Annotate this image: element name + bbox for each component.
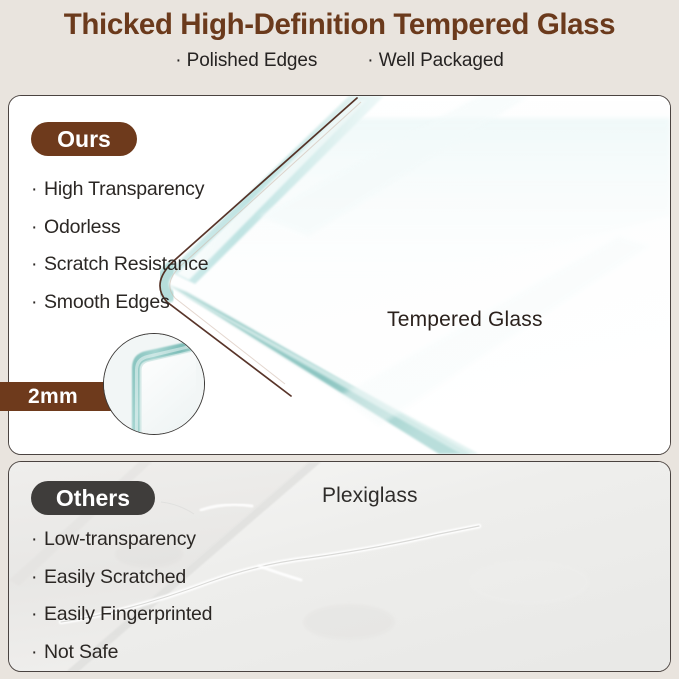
plexiglass-label: Plexiglass xyxy=(322,484,418,508)
page-title: Thicked High-Definition Tempered Glass xyxy=(0,8,679,42)
feature-item: ·Smooth Edges xyxy=(31,293,208,313)
badge-others: Others xyxy=(31,481,155,515)
plexiglass-haze-c xyxy=(469,560,589,604)
feature-label: High Transparency xyxy=(44,178,204,200)
bullet-icon: · xyxy=(31,255,44,275)
magnified-glass-corner xyxy=(104,334,204,434)
feature-list-ours: ·High Transparency ·Odorless ·Scratch Re… xyxy=(31,180,208,330)
feature-label: Low-transparency xyxy=(44,528,196,550)
feature-label: Easily Scratched xyxy=(44,566,186,588)
feature-label: Easily Fingerprinted xyxy=(44,603,212,625)
feature-item: ·Easily Scratched xyxy=(31,568,212,588)
subtitle-row: · Polished Edges · Well Packaged xyxy=(0,50,679,72)
bullet-icon: · xyxy=(367,50,373,71)
bullet-icon: · xyxy=(31,530,44,550)
badge-ours: Ours xyxy=(31,122,137,156)
bullet-icon: · xyxy=(31,605,44,625)
feature-label: Not Safe xyxy=(44,641,118,663)
feature-item: ·High Transparency xyxy=(31,180,208,200)
feature-item: ·Odorless xyxy=(31,218,208,238)
thickness-label: 2mm xyxy=(0,385,78,409)
header: Thicked High-Definition Tempered Glass ·… xyxy=(0,0,679,95)
plexiglass-haze-b xyxy=(303,604,395,640)
feature-item: ·Scratch Resistance xyxy=(31,255,208,275)
feature-label: Smooth Edges xyxy=(44,291,170,313)
bullet-icon: · xyxy=(31,218,44,238)
magnifier-inset xyxy=(103,333,205,435)
feature-item: ·Not Safe xyxy=(31,643,212,663)
feature-item: ·Low-transparency xyxy=(31,530,212,550)
subtitle-item-well-packaged: · Well Packaged xyxy=(367,50,504,72)
subtitle-item-polished-edges: · Polished Edges xyxy=(175,50,317,72)
bullet-icon: · xyxy=(31,643,44,663)
badge-others-label: Others xyxy=(56,485,130,512)
subtitle-label: Polished Edges xyxy=(187,50,318,71)
badge-ours-label: Ours xyxy=(57,126,111,153)
thickness-banner: 2mm xyxy=(0,382,112,411)
subtitle-label: Well Packaged xyxy=(379,50,504,71)
tempered-glass-label: Tempered Glass xyxy=(387,308,543,332)
feature-item: ·Easily Fingerprinted xyxy=(31,605,212,625)
feature-label: Odorless xyxy=(44,216,120,238)
bullet-icon: · xyxy=(31,293,44,313)
feature-label: Scratch Resistance xyxy=(44,253,208,275)
feature-list-others: ·Low-transparency ·Easily Scratched ·Eas… xyxy=(31,530,212,672)
bullet-icon: · xyxy=(31,568,44,588)
bullet-icon: · xyxy=(31,180,44,200)
bullet-icon: · xyxy=(175,50,181,71)
